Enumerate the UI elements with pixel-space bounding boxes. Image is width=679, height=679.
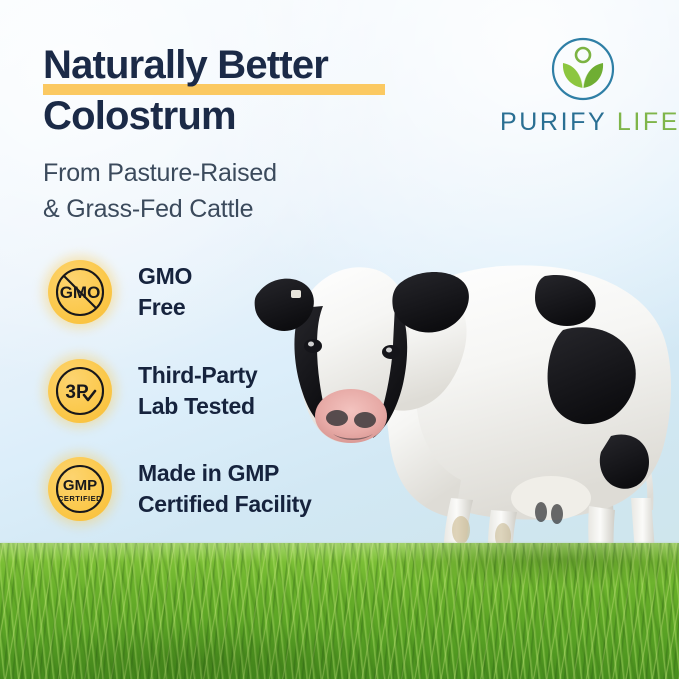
brand-word-purify: PURIFY bbox=[500, 108, 607, 136]
badge-gmp-certified: GMP CERTIFIED bbox=[44, 453, 116, 525]
badge-circle: GMP CERTIFIED bbox=[48, 457, 112, 521]
feature-gmo-free: GMO GMO Free bbox=[44, 256, 192, 328]
feature-label-line-1: GMO bbox=[138, 261, 192, 292]
subheadline-block: From Pasture-Raised & Grass-Fed Cattle bbox=[43, 155, 277, 227]
badge-gmo-free: GMO bbox=[44, 256, 116, 328]
feature-label-line-1: Made in GMP bbox=[138, 458, 312, 489]
no-gmo-badge-icon: GMO bbox=[48, 260, 112, 324]
feature-label-line-2: Free bbox=[138, 292, 192, 323]
subheadline-line-1: From Pasture-Raised bbox=[43, 155, 277, 191]
svg-text:GMO: GMO bbox=[60, 283, 101, 302]
brand-wordmark: PURIFY LIFE bbox=[500, 108, 665, 137]
subheadline-line-2: & Grass-Fed Cattle bbox=[43, 191, 277, 227]
feature-label-third-party: Third-Party Lab Tested bbox=[138, 360, 257, 422]
svg-text:3P: 3P bbox=[65, 382, 89, 403]
feature-label-line-1: Third-Party bbox=[138, 360, 257, 391]
badge-circle: 3P bbox=[48, 359, 112, 423]
svg-text:CERTIFIED: CERTIFIED bbox=[58, 494, 102, 503]
badge-circle: GMO bbox=[48, 260, 112, 324]
badge-third-party: 3P bbox=[44, 355, 116, 427]
svg-text:GMP: GMP bbox=[63, 477, 97, 494]
feature-third-party-tested: 3P Third-Party Lab Tested bbox=[44, 355, 257, 427]
feature-label-line-2: Certified Facility bbox=[138, 489, 312, 520]
feature-label-gmo: GMO Free bbox=[138, 261, 192, 323]
feature-label-gmp: Made in GMP Certified Facility bbox=[138, 458, 312, 520]
headline-line-1: Naturally Better bbox=[43, 40, 463, 90]
feature-gmp-certified: GMP CERTIFIED Made in GMP Certified Faci… bbox=[44, 453, 312, 525]
gmp-certified-badge-icon: GMP CERTIFIED bbox=[48, 457, 112, 521]
headline-line-2: Colostrum bbox=[43, 91, 463, 141]
feature-label-line-2: Lab Tested bbox=[138, 391, 257, 422]
leaf-person-circle-logo-icon bbox=[550, 36, 616, 102]
brand-word-life: LIFE bbox=[617, 108, 679, 136]
grass-shading bbox=[0, 543, 679, 679]
brand-logo: PURIFY LIFE bbox=[500, 36, 665, 137]
grass-field bbox=[0, 543, 679, 679]
headline-block: Naturally Better Colostrum bbox=[43, 40, 463, 141]
third-party-check-badge-icon: 3P bbox=[48, 359, 112, 423]
product-marketing-image: Naturally Better Colostrum From Pasture-… bbox=[0, 0, 679, 679]
